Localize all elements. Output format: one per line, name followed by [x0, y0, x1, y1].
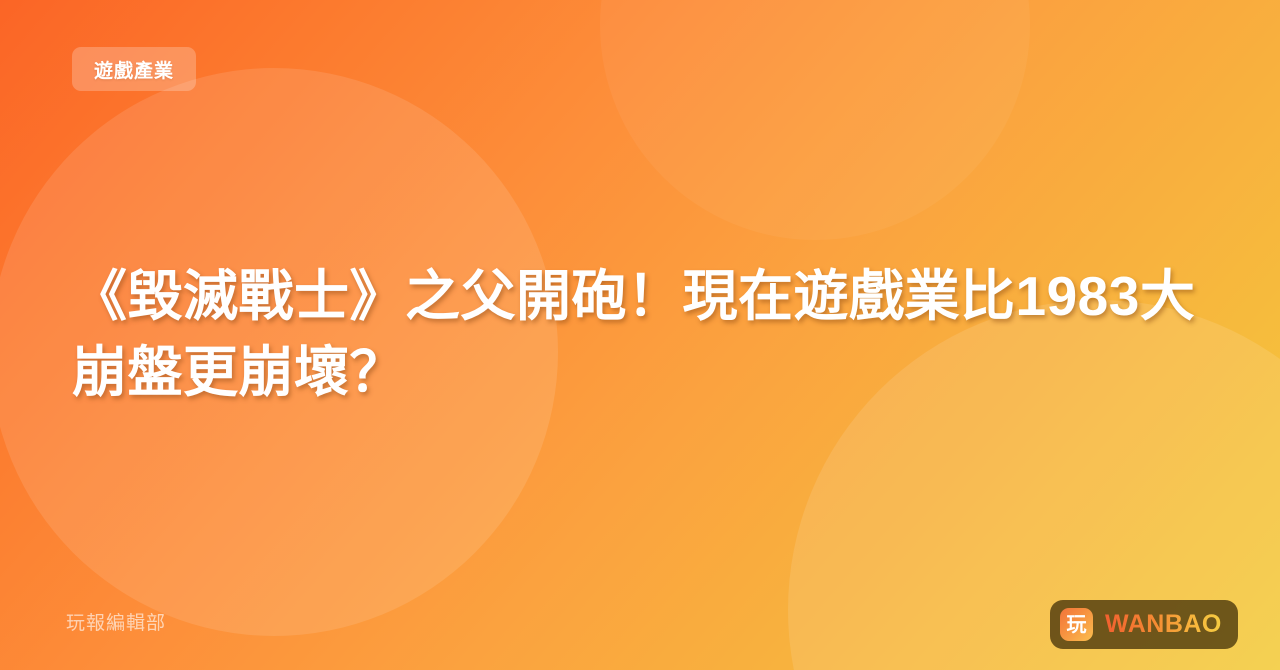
category-badge[interactable]: 遊戲產業 [72, 47, 196, 91]
category-badge-label: 遊戲產業 [94, 56, 174, 83]
brand-logo[interactable]: 玩 WANBAO [1050, 600, 1238, 649]
background-circle-top [600, 0, 1030, 240]
brand-mark-icon: 玩 [1060, 608, 1093, 641]
brand-wordmark: WANBAO [1105, 610, 1222, 639]
page-title: 《毀滅戰士》之父開砲！現在遊戲業比1983大崩盤更崩壞？ [72, 258, 1212, 411]
byline-author: 玩報編輯部 [66, 608, 166, 635]
article-cover-card: 遊戲產業 《毀滅戰士》之父開砲！現在遊戲業比1983大崩盤更崩壞？ 玩報編輯部 … [0, 0, 1280, 670]
